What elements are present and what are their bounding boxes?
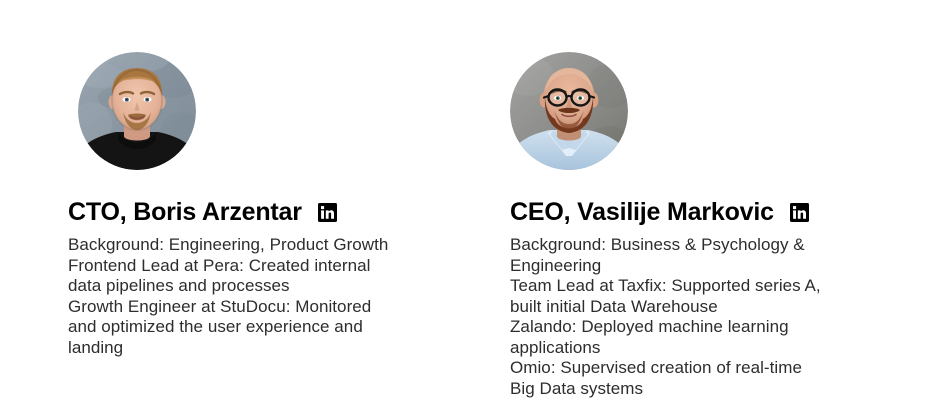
linkedin-icon[interactable] (318, 203, 337, 222)
profile-name-row: CTO, Boris Arzentar (68, 200, 337, 225)
portrait-photo-icon (78, 52, 196, 170)
bio-line: applications (510, 338, 870, 359)
portrait-photo-icon (510, 52, 628, 170)
page-title: CEO, Vasilije Markovic (510, 200, 774, 225)
bio-line: Big Data systems (510, 379, 870, 400)
bio-line: Zalando: Deployed machine learning (510, 317, 870, 338)
avatar (510, 52, 628, 170)
bio-line: Frontend Lead at Pera: Created internal (68, 256, 418, 277)
bio-line: Team Lead at Taxfix: Supported series A, (510, 276, 870, 297)
bio-line: landing (68, 338, 418, 359)
bio-line: built initial Data Warehouse (510, 297, 870, 318)
bio-line: Engineering (510, 256, 870, 277)
profile-name-row: CEO, Vasilije Markovic (510, 200, 809, 225)
bio-line: data pipelines and processes (68, 276, 418, 297)
profile-bio: Background: Business & Psychology & Engi… (510, 235, 870, 399)
bio-line: and optimized the user experience and (68, 317, 418, 338)
team-profiles-page: CTO, Boris Arzentar Background: Engineer… (0, 0, 948, 412)
page-title: CTO, Boris Arzentar (68, 200, 302, 225)
profile-bio: Background: Engineering, Product Growth … (68, 235, 418, 358)
profile-card-cto: CTO, Boris Arzentar Background: Engineer… (68, 52, 468, 170)
profile-card-ceo: CEO, Vasilije Markovic Background: Busin… (510, 52, 910, 170)
bio-line: Background: Engineering, Product Growth (68, 235, 418, 256)
bio-line: Background: Business & Psychology & (510, 235, 870, 256)
avatar (78, 52, 196, 170)
bio-line: Omio: Supervised creation of real-time (510, 358, 870, 379)
linkedin-icon[interactable] (790, 203, 809, 222)
bio-line: Growth Engineer at StuDocu: Monitored (68, 297, 418, 318)
